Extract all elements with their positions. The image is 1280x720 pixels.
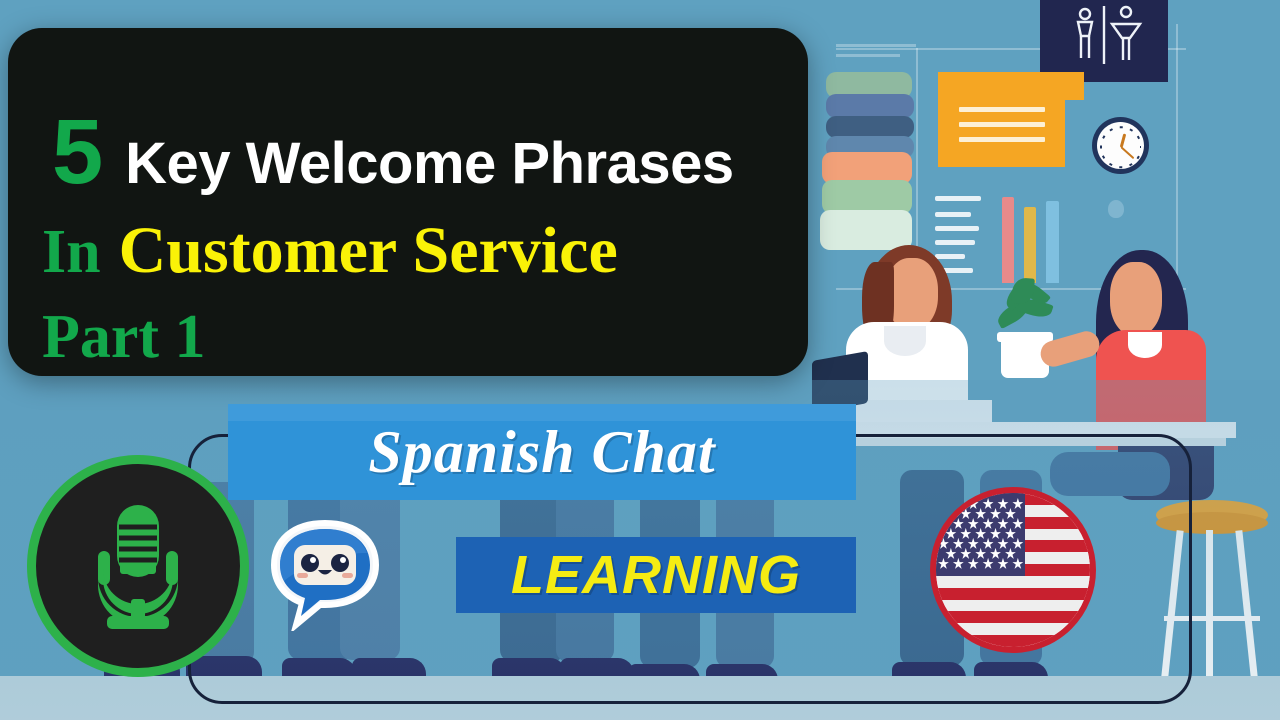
flag-canton (936, 493, 1025, 576)
title-line-1: 5 Key Welcome Phrases (52, 106, 734, 198)
title-line2-prefix: In (42, 221, 101, 283)
title-number: 5 (52, 106, 103, 198)
title-headline: Key Welcome Phrases (125, 135, 733, 193)
title-line-2: In Customer Service (42, 218, 618, 284)
primary-banner-label: Spanish Chat (368, 418, 715, 487)
microphone-badge[interactable] (27, 455, 249, 677)
chat-bubble-robot-icon (268, 618, 382, 635)
restroom-sign-icon (1040, 0, 1168, 82)
secondary-banner: LEARNING (456, 537, 856, 613)
title-line2-emphasis: Customer Service (119, 218, 618, 284)
us-flag-badge[interactable] (930, 487, 1096, 653)
book (1002, 197, 1014, 283)
title-part-label: Part 1 (42, 303, 206, 371)
title-line-3: Part 1 (42, 306, 206, 368)
title-card: 5 Key Welcome Phrases In Customer Servic… (8, 28, 808, 376)
wall-clock-icon (1092, 117, 1149, 174)
thumbnail-canvas: 5 Key Welcome Phrases In Customer Servic… (0, 0, 1280, 720)
document-icon (938, 72, 1065, 167)
secondary-banner-label: LEARNING (511, 544, 801, 606)
book (1046, 201, 1059, 283)
primary-banner: Spanish Chat (228, 404, 856, 500)
wall-line (1176, 24, 1178, 288)
book (1024, 207, 1036, 283)
chatbot-badge[interactable] (268, 519, 382, 631)
microphone-icon (79, 499, 197, 634)
us-flag-icon (936, 493, 1090, 647)
door-knob (1108, 200, 1124, 218)
book-row (1002, 193, 1082, 283)
